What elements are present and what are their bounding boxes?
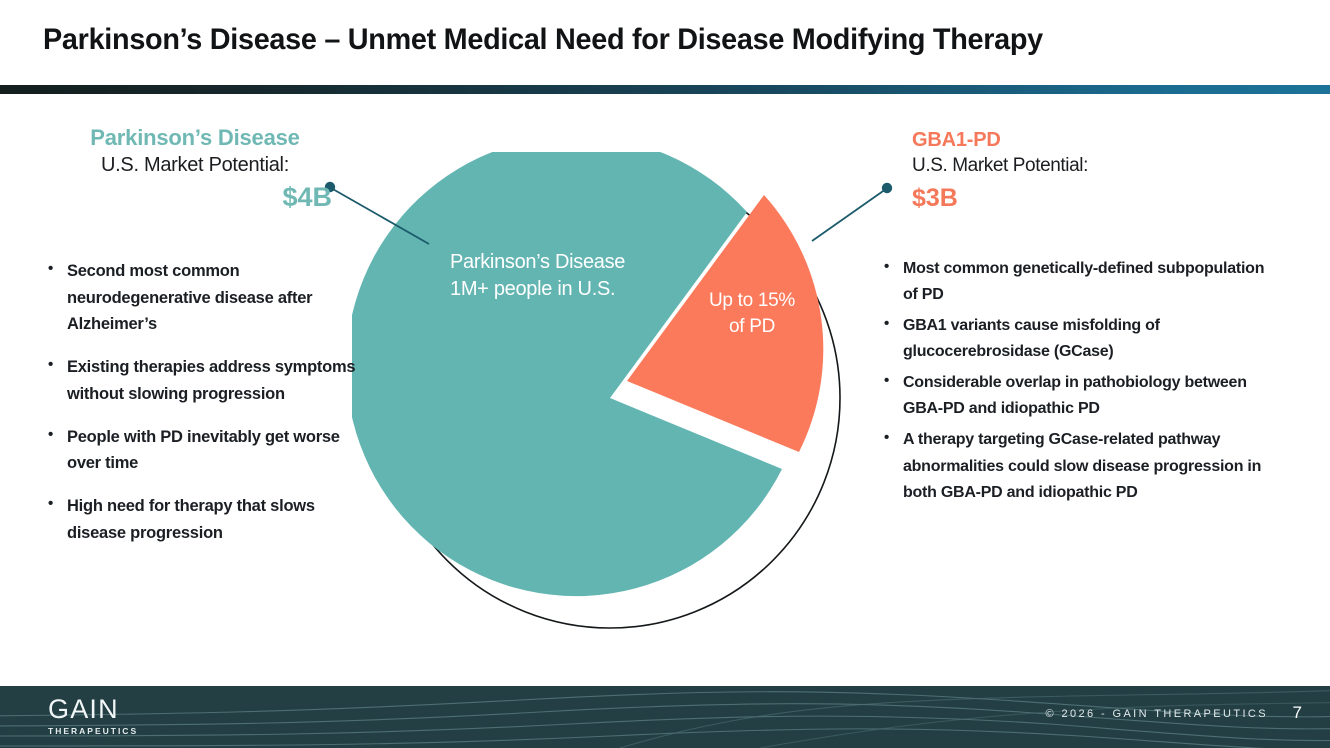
left-panel-heading: Parkinson’s Disease	[30, 125, 360, 151]
pie-label-gba1pd-line2: of PD	[697, 314, 807, 340]
slide-root: Parkinson’s Disease – Unmet Medical Need…	[0, 0, 1330, 748]
pie-label-gba1pd: Up to 15% of PD	[697, 288, 807, 339]
list-item: Existing therapies address symptoms with…	[37, 354, 357, 407]
pie-chart-svg	[352, 152, 872, 652]
right-panel: GBA1-PD U.S. Market Potential: $3B	[912, 128, 1272, 216]
list-item: Considerable overlap in pathobiology bet…	[873, 370, 1273, 422]
list-item: High need for therapy that slows disease…	[37, 493, 357, 546]
pie-label-gba1pd-line1: Up to 15%	[697, 288, 807, 314]
logo-tagline: THERAPEUTICS	[48, 727, 138, 736]
pie-chart	[352, 152, 872, 652]
left-panel-bullets: Second most common neurodegenerative dis…	[37, 258, 357, 562]
gain-therapeutics-logo: GAIN THERAPEUTICS	[48, 696, 138, 736]
header-divider	[0, 85, 1330, 94]
left-panel-value: $4B	[30, 180, 360, 215]
page-number: 7	[1293, 703, 1302, 723]
connector-dot-right	[882, 183, 892, 193]
list-item: A therapy targeting GCase-related pathwa…	[873, 427, 1273, 505]
list-item: People with PD inevitably get worse over…	[37, 424, 357, 477]
page-title: Parkinson’s Disease – Unmet Medical Need…	[43, 23, 1043, 57]
pie-label-parkinsons: Parkinson’s Disease 1M+ people in U.S.	[450, 249, 625, 303]
right-panel-heading: GBA1-PD	[912, 128, 1272, 152]
right-panel-subheading: U.S. Market Potential:	[912, 152, 1272, 181]
pie-label-parkinsons-line2: 1M+ people in U.S.	[450, 276, 625, 303]
right-panel-value: $3B	[912, 181, 1272, 216]
slide-footer: GAIN THERAPEUTICS © 2026 - GAIN THERAPEU…	[0, 686, 1330, 748]
left-panel-subheading: U.S. Market Potential:	[30, 151, 360, 180]
list-item: Second most common neurodegenerative dis…	[37, 258, 357, 338]
left-panel: Parkinson’s Disease U.S. Market Potentia…	[30, 125, 360, 215]
copyright-text: © 2026 - GAIN THERAPEUTICS	[1045, 708, 1268, 720]
right-panel-bullets: Most common genetically-defined subpopul…	[873, 256, 1273, 511]
pie-label-parkinsons-line1: Parkinson’s Disease	[450, 249, 625, 276]
list-item: Most common genetically-defined subpopul…	[873, 256, 1273, 308]
logo-wordmark: GAIN	[48, 696, 138, 723]
list-item: GBA1 variants cause misfolding of glucoc…	[873, 313, 1273, 365]
